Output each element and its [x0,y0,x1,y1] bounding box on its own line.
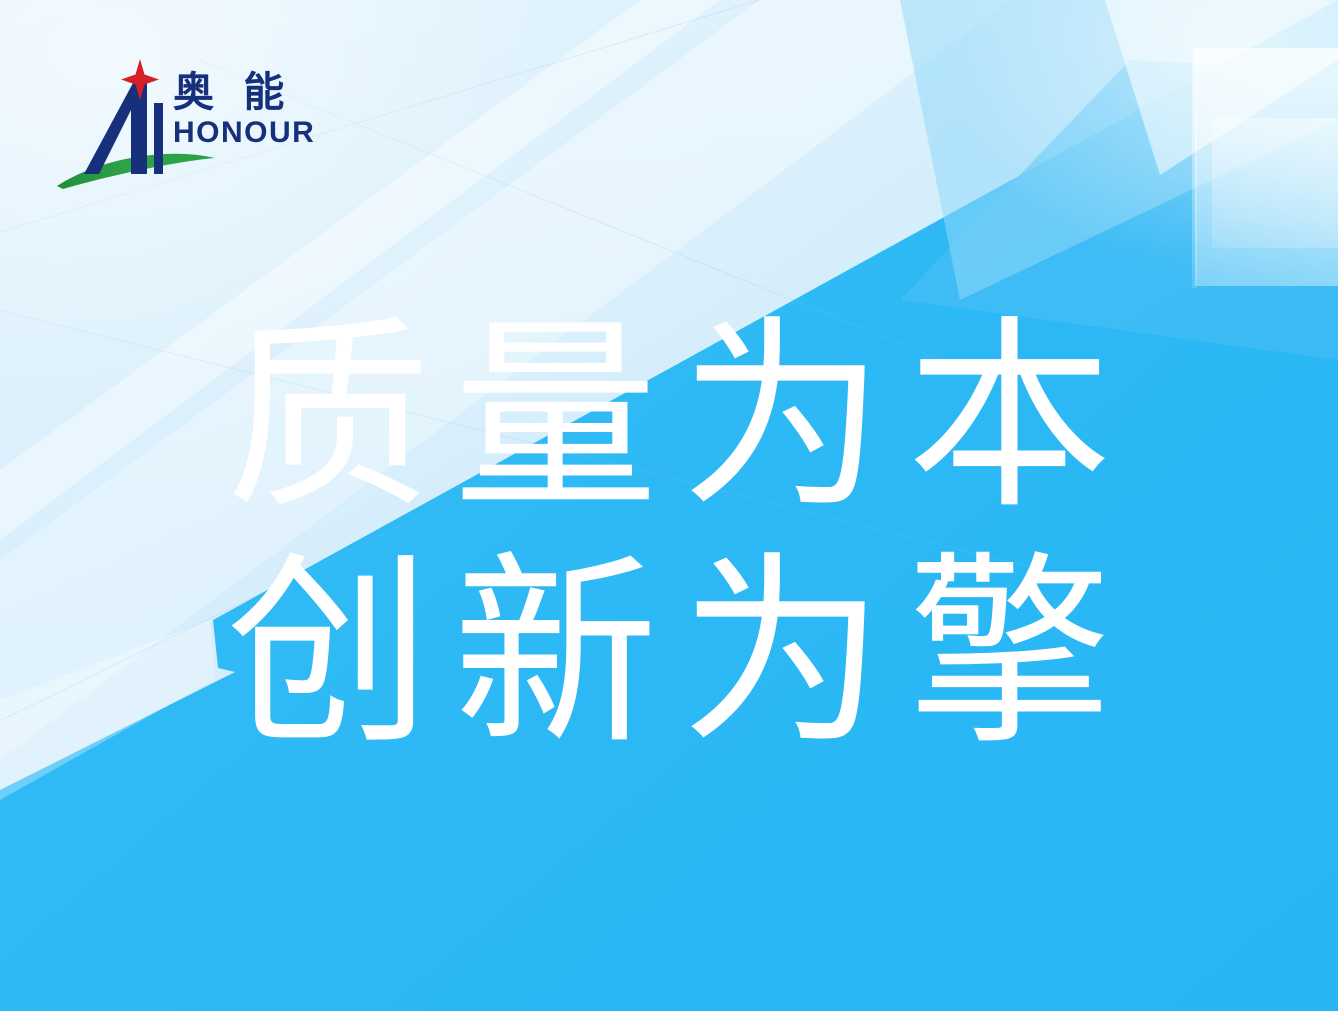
company-logo: 奥 能 HONOUR [55,55,310,195]
brand-english-name: HONOUR [173,116,313,150]
background-glow-topright [938,0,1338,280]
poster-canvas: 奥 能 HONOUR 质量为本 创新为擎 [0,0,1338,1011]
mountain-a-icon [84,83,147,174]
logo-bar-icon [154,103,163,174]
brand-chinese-name: 奥 能 [173,69,313,115]
four-point-star-icon [121,59,159,100]
